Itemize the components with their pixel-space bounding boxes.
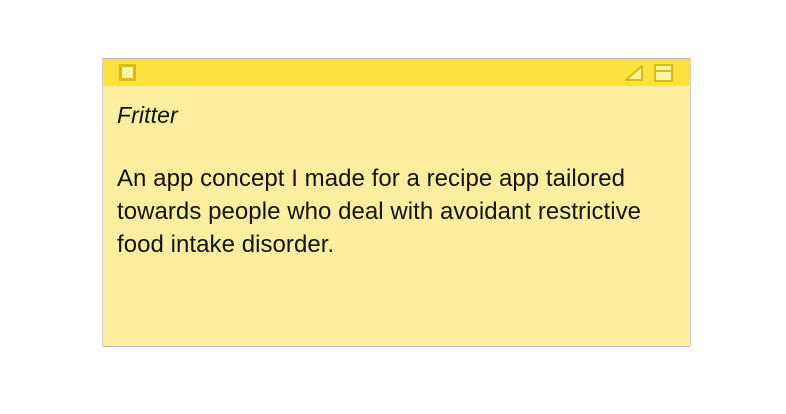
screen: Fritter An app concept I made for a reci… xyxy=(0,0,786,414)
card-description: An app concept I made for a recipe app t… xyxy=(117,162,672,261)
square-icon[interactable] xyxy=(119,64,136,81)
card-body: Fritter An app concept I made for a reci… xyxy=(103,86,690,346)
card-titlebar xyxy=(103,59,690,86)
panel-icon[interactable] xyxy=(654,64,673,82)
card-title: Fritter xyxy=(117,100,672,130)
project-card: Fritter An app concept I made for a reci… xyxy=(103,58,690,346)
triangle-icon[interactable] xyxy=(625,65,643,81)
